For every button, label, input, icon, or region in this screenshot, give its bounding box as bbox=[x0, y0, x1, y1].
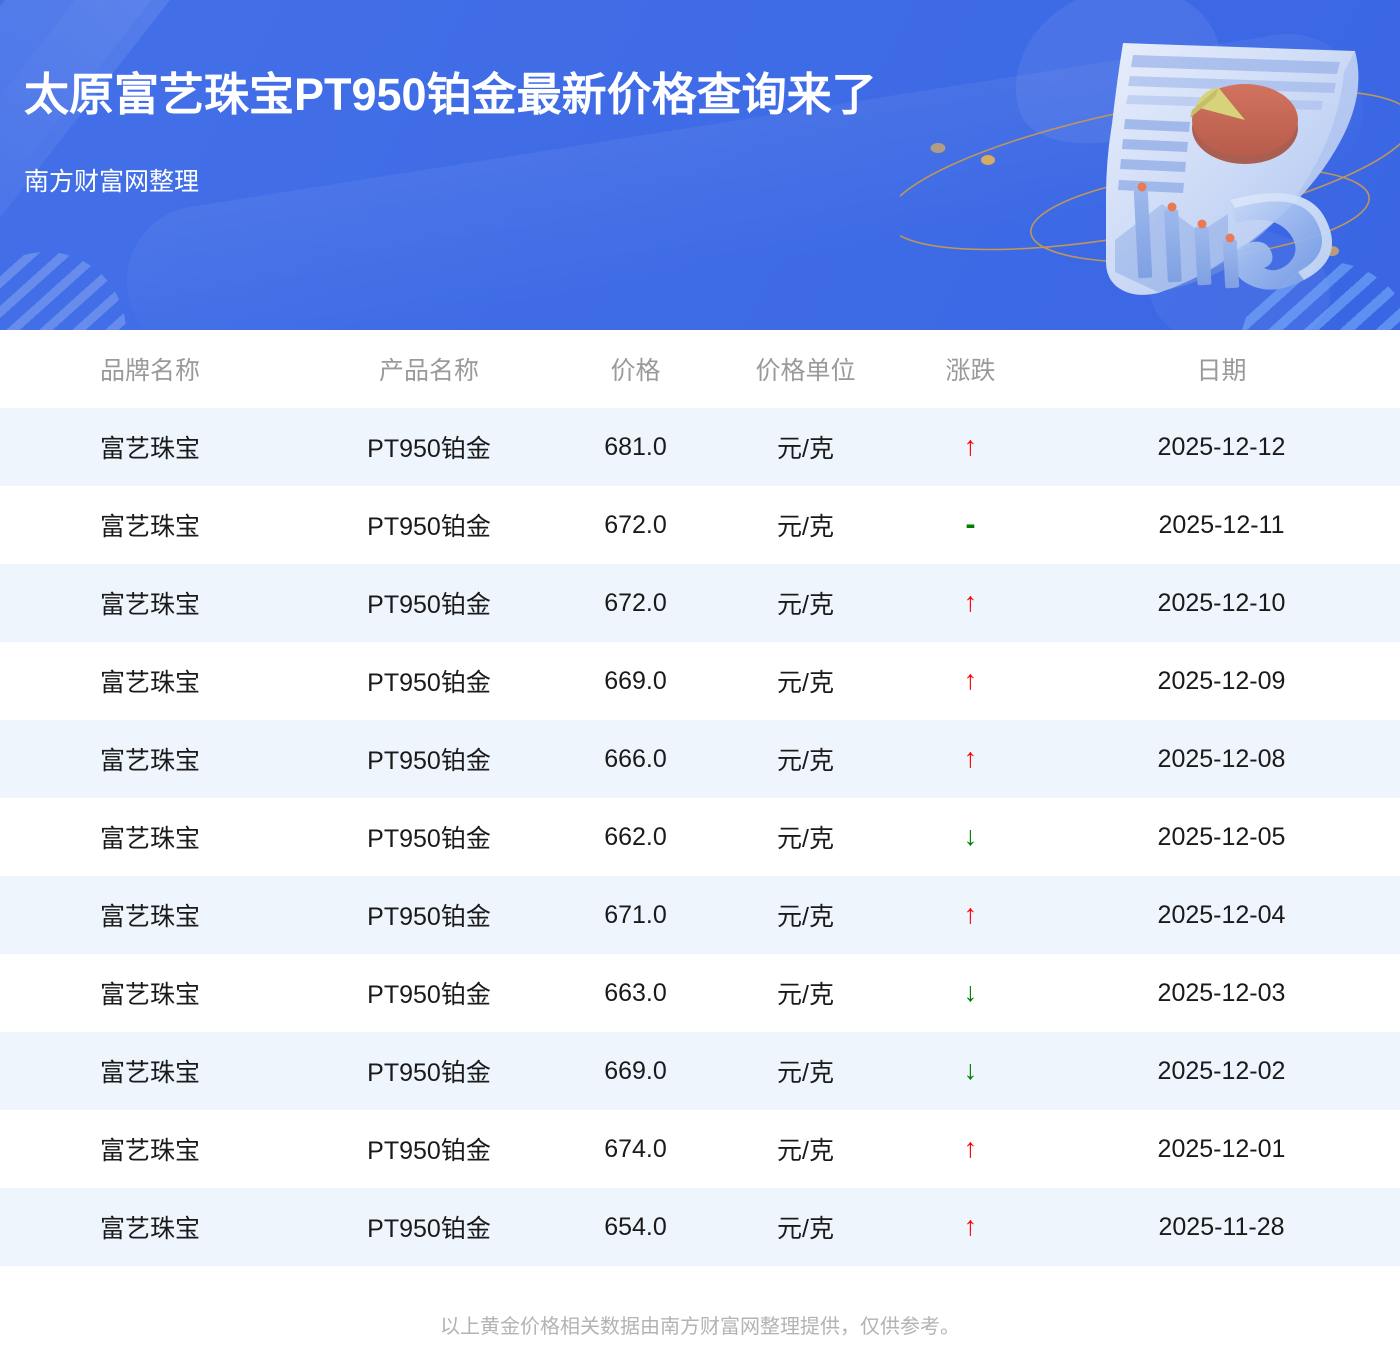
table-cell-change: ↑ bbox=[898, 408, 1043, 486]
table-cell-price: 672.0 bbox=[558, 564, 713, 642]
table-cell-product: PT950铂金 bbox=[300, 954, 558, 1032]
column-header-unit: 价格单位 bbox=[713, 330, 898, 408]
table-cell-change: - bbox=[898, 486, 1043, 564]
price-table-section: S 南方财富网 Southmoney.com 品牌名称 产品名称 价格 价格单位… bbox=[0, 330, 1400, 1339]
table-cell-change: ↑ bbox=[898, 642, 1043, 720]
platinum-price-table: 品牌名称 产品名称 价格 价格单位 涨跌 日期 富艺珠宝PT950铂金681.0… bbox=[0, 330, 1400, 1266]
change-flat-icon: - bbox=[966, 510, 976, 540]
table-row: 富艺珠宝PT950铂金663.0元/克↓2025-12-03 bbox=[0, 954, 1400, 1032]
table-cell-product: PT950铂金 bbox=[300, 408, 558, 486]
table-row: 富艺珠宝PT950铂金672.0元/克-2025-12-11 bbox=[0, 486, 1400, 564]
change-up-icon: ↑ bbox=[964, 589, 978, 616]
change-up-icon: ↑ bbox=[964, 1213, 978, 1240]
table-row: 富艺珠宝PT950铂金666.0元/克↑2025-12-08 bbox=[0, 720, 1400, 798]
table-cell-price: 669.0 bbox=[558, 642, 713, 720]
table-cell-change: ↓ bbox=[898, 798, 1043, 876]
table-cell-change: ↓ bbox=[898, 1032, 1043, 1110]
table-row: 富艺珠宝PT950铂金671.0元/克↑2025-12-04 bbox=[0, 876, 1400, 954]
table-row: 富艺珠宝PT950铂金672.0元/克↑2025-12-10 bbox=[0, 564, 1400, 642]
table-cell-date: 2025-12-02 bbox=[1043, 1032, 1400, 1110]
column-header-product: 产品名称 bbox=[300, 330, 558, 408]
table-cell-change: ↓ bbox=[898, 954, 1043, 1032]
document-chart-illustration bbox=[900, 0, 1400, 330]
table-cell-unit: 元/克 bbox=[713, 642, 898, 720]
table-footnote: 以上黄金价格相关数据由南方财富网整理提供，仅供参考。 bbox=[0, 1266, 1400, 1339]
table-cell-date: 2025-12-11 bbox=[1043, 486, 1400, 564]
table-row: 富艺珠宝PT950铂金662.0元/克↓2025-12-05 bbox=[0, 798, 1400, 876]
table-cell-brand: 富艺珠宝 bbox=[0, 408, 300, 486]
table-cell-unit: 元/克 bbox=[713, 798, 898, 876]
table-cell-price: 674.0 bbox=[558, 1110, 713, 1188]
table-cell-price: 681.0 bbox=[558, 408, 713, 486]
table-cell-product: PT950铂金 bbox=[300, 798, 558, 876]
column-header-brand: 品牌名称 bbox=[0, 330, 300, 408]
table-cell-unit: 元/克 bbox=[713, 876, 898, 954]
banner-decor-stripe-top-left bbox=[0, 0, 206, 286]
change-down-icon: ↓ bbox=[964, 823, 978, 850]
table-cell-unit: 元/克 bbox=[713, 720, 898, 798]
table-cell-unit: 元/克 bbox=[713, 1032, 898, 1110]
table-header: 品牌名称 产品名称 价格 价格单位 涨跌 日期 bbox=[0, 330, 1400, 408]
table-cell-unit: 元/克 bbox=[713, 954, 898, 1032]
table-cell-brand: 富艺珠宝 bbox=[0, 798, 300, 876]
table-cell-date: 2025-12-09 bbox=[1043, 642, 1400, 720]
table-cell-change: ↑ bbox=[898, 1188, 1043, 1266]
table-cell-price: 654.0 bbox=[558, 1188, 713, 1266]
table-cell-date: 2025-12-01 bbox=[1043, 1110, 1400, 1188]
change-down-icon: ↓ bbox=[964, 979, 978, 1006]
column-header-change: 涨跌 bbox=[898, 330, 1043, 408]
table-cell-product: PT950铂金 bbox=[300, 1110, 558, 1188]
table-cell-product: PT950铂金 bbox=[300, 564, 558, 642]
table-cell-brand: 富艺珠宝 bbox=[0, 1032, 300, 1110]
page-title: 太原富艺珠宝PT950铂金最新价格查询来了 bbox=[24, 72, 877, 117]
change-up-icon: ↑ bbox=[964, 901, 978, 928]
table-cell-brand: 富艺珠宝 bbox=[0, 954, 300, 1032]
table-row: 富艺珠宝PT950铂金669.0元/克↓2025-12-02 bbox=[0, 1032, 1400, 1110]
illustration-svg bbox=[900, 0, 1400, 330]
table-body: 富艺珠宝PT950铂金681.0元/克↑2025-12-12富艺珠宝PT950铂… bbox=[0, 408, 1400, 1266]
table-cell-price: 666.0 bbox=[558, 720, 713, 798]
table-cell-brand: 富艺珠宝 bbox=[0, 564, 300, 642]
table-cell-unit: 元/克 bbox=[713, 486, 898, 564]
pie-chart bbox=[1190, 84, 1298, 164]
table-cell-brand: 富艺珠宝 bbox=[0, 720, 300, 798]
table-cell-product: PT950铂金 bbox=[300, 1032, 558, 1110]
change-up-icon: ↑ bbox=[964, 745, 978, 772]
table-cell-change: ↑ bbox=[898, 564, 1043, 642]
table-cell-product: PT950铂金 bbox=[300, 720, 558, 798]
table-row: 富艺珠宝PT950铂金674.0元/克↑2025-12-01 bbox=[0, 1110, 1400, 1188]
table-header-row: 品牌名称 产品名称 价格 价格单位 涨跌 日期 bbox=[0, 330, 1400, 408]
table-cell-price: 672.0 bbox=[558, 486, 713, 564]
table-cell-brand: 富艺珠宝 bbox=[0, 1110, 300, 1188]
table-cell-unit: 元/克 bbox=[713, 1188, 898, 1266]
banner-decor-striped-circle-left bbox=[0, 252, 126, 330]
table-cell-date: 2025-12-08 bbox=[1043, 720, 1400, 798]
page-subtitle: 南方财富网整理 bbox=[24, 170, 199, 195]
change-up-icon: ↑ bbox=[964, 1135, 978, 1162]
column-header-date: 日期 bbox=[1043, 330, 1400, 408]
table-cell-product: PT950铂金 bbox=[300, 876, 558, 954]
change-up-icon: ↑ bbox=[964, 433, 978, 460]
table-cell-brand: 富艺珠宝 bbox=[0, 876, 300, 954]
table-cell-product: PT950铂金 bbox=[300, 1188, 558, 1266]
table-row: 富艺珠宝PT950铂金681.0元/克↑2025-12-12 bbox=[0, 408, 1400, 486]
table-cell-price: 662.0 bbox=[558, 798, 713, 876]
table-cell-date: 2025-12-03 bbox=[1043, 954, 1400, 1032]
table-cell-price: 663.0 bbox=[558, 954, 713, 1032]
table-row: 富艺珠宝PT950铂金654.0元/克↑2025-11-28 bbox=[0, 1188, 1400, 1266]
table-cell-change: ↑ bbox=[898, 876, 1043, 954]
change-down-icon: ↓ bbox=[964, 1057, 978, 1084]
table-cell-product: PT950铂金 bbox=[300, 642, 558, 720]
table-cell-change: ↑ bbox=[898, 720, 1043, 798]
table-cell-brand: 富艺珠宝 bbox=[0, 642, 300, 720]
table-cell-price: 671.0 bbox=[558, 876, 713, 954]
table-cell-unit: 元/克 bbox=[713, 564, 898, 642]
table-cell-brand: 富艺珠宝 bbox=[0, 486, 300, 564]
table-cell-change: ↑ bbox=[898, 1110, 1043, 1188]
change-up-icon: ↑ bbox=[964, 667, 978, 694]
column-header-price: 价格 bbox=[558, 330, 713, 408]
table-cell-date: 2025-12-04 bbox=[1043, 876, 1400, 954]
table-cell-brand: 富艺珠宝 bbox=[0, 1188, 300, 1266]
table-cell-date: 2025-12-12 bbox=[1043, 408, 1400, 486]
table-row: 富艺珠宝PT950铂金669.0元/克↑2025-12-09 bbox=[0, 642, 1400, 720]
table-cell-date: 2025-12-05 bbox=[1043, 798, 1400, 876]
table-cell-unit: 元/克 bbox=[713, 408, 898, 486]
page-banner: 太原富艺珠宝PT950铂金最新价格查询来了 南方财富网整理 bbox=[0, 0, 1400, 330]
table-cell-date: 2025-12-10 bbox=[1043, 564, 1400, 642]
table-cell-product: PT950铂金 bbox=[300, 486, 558, 564]
table-cell-date: 2025-11-28 bbox=[1043, 1188, 1400, 1266]
table-cell-price: 669.0 bbox=[558, 1032, 713, 1110]
table-cell-unit: 元/克 bbox=[713, 1110, 898, 1188]
